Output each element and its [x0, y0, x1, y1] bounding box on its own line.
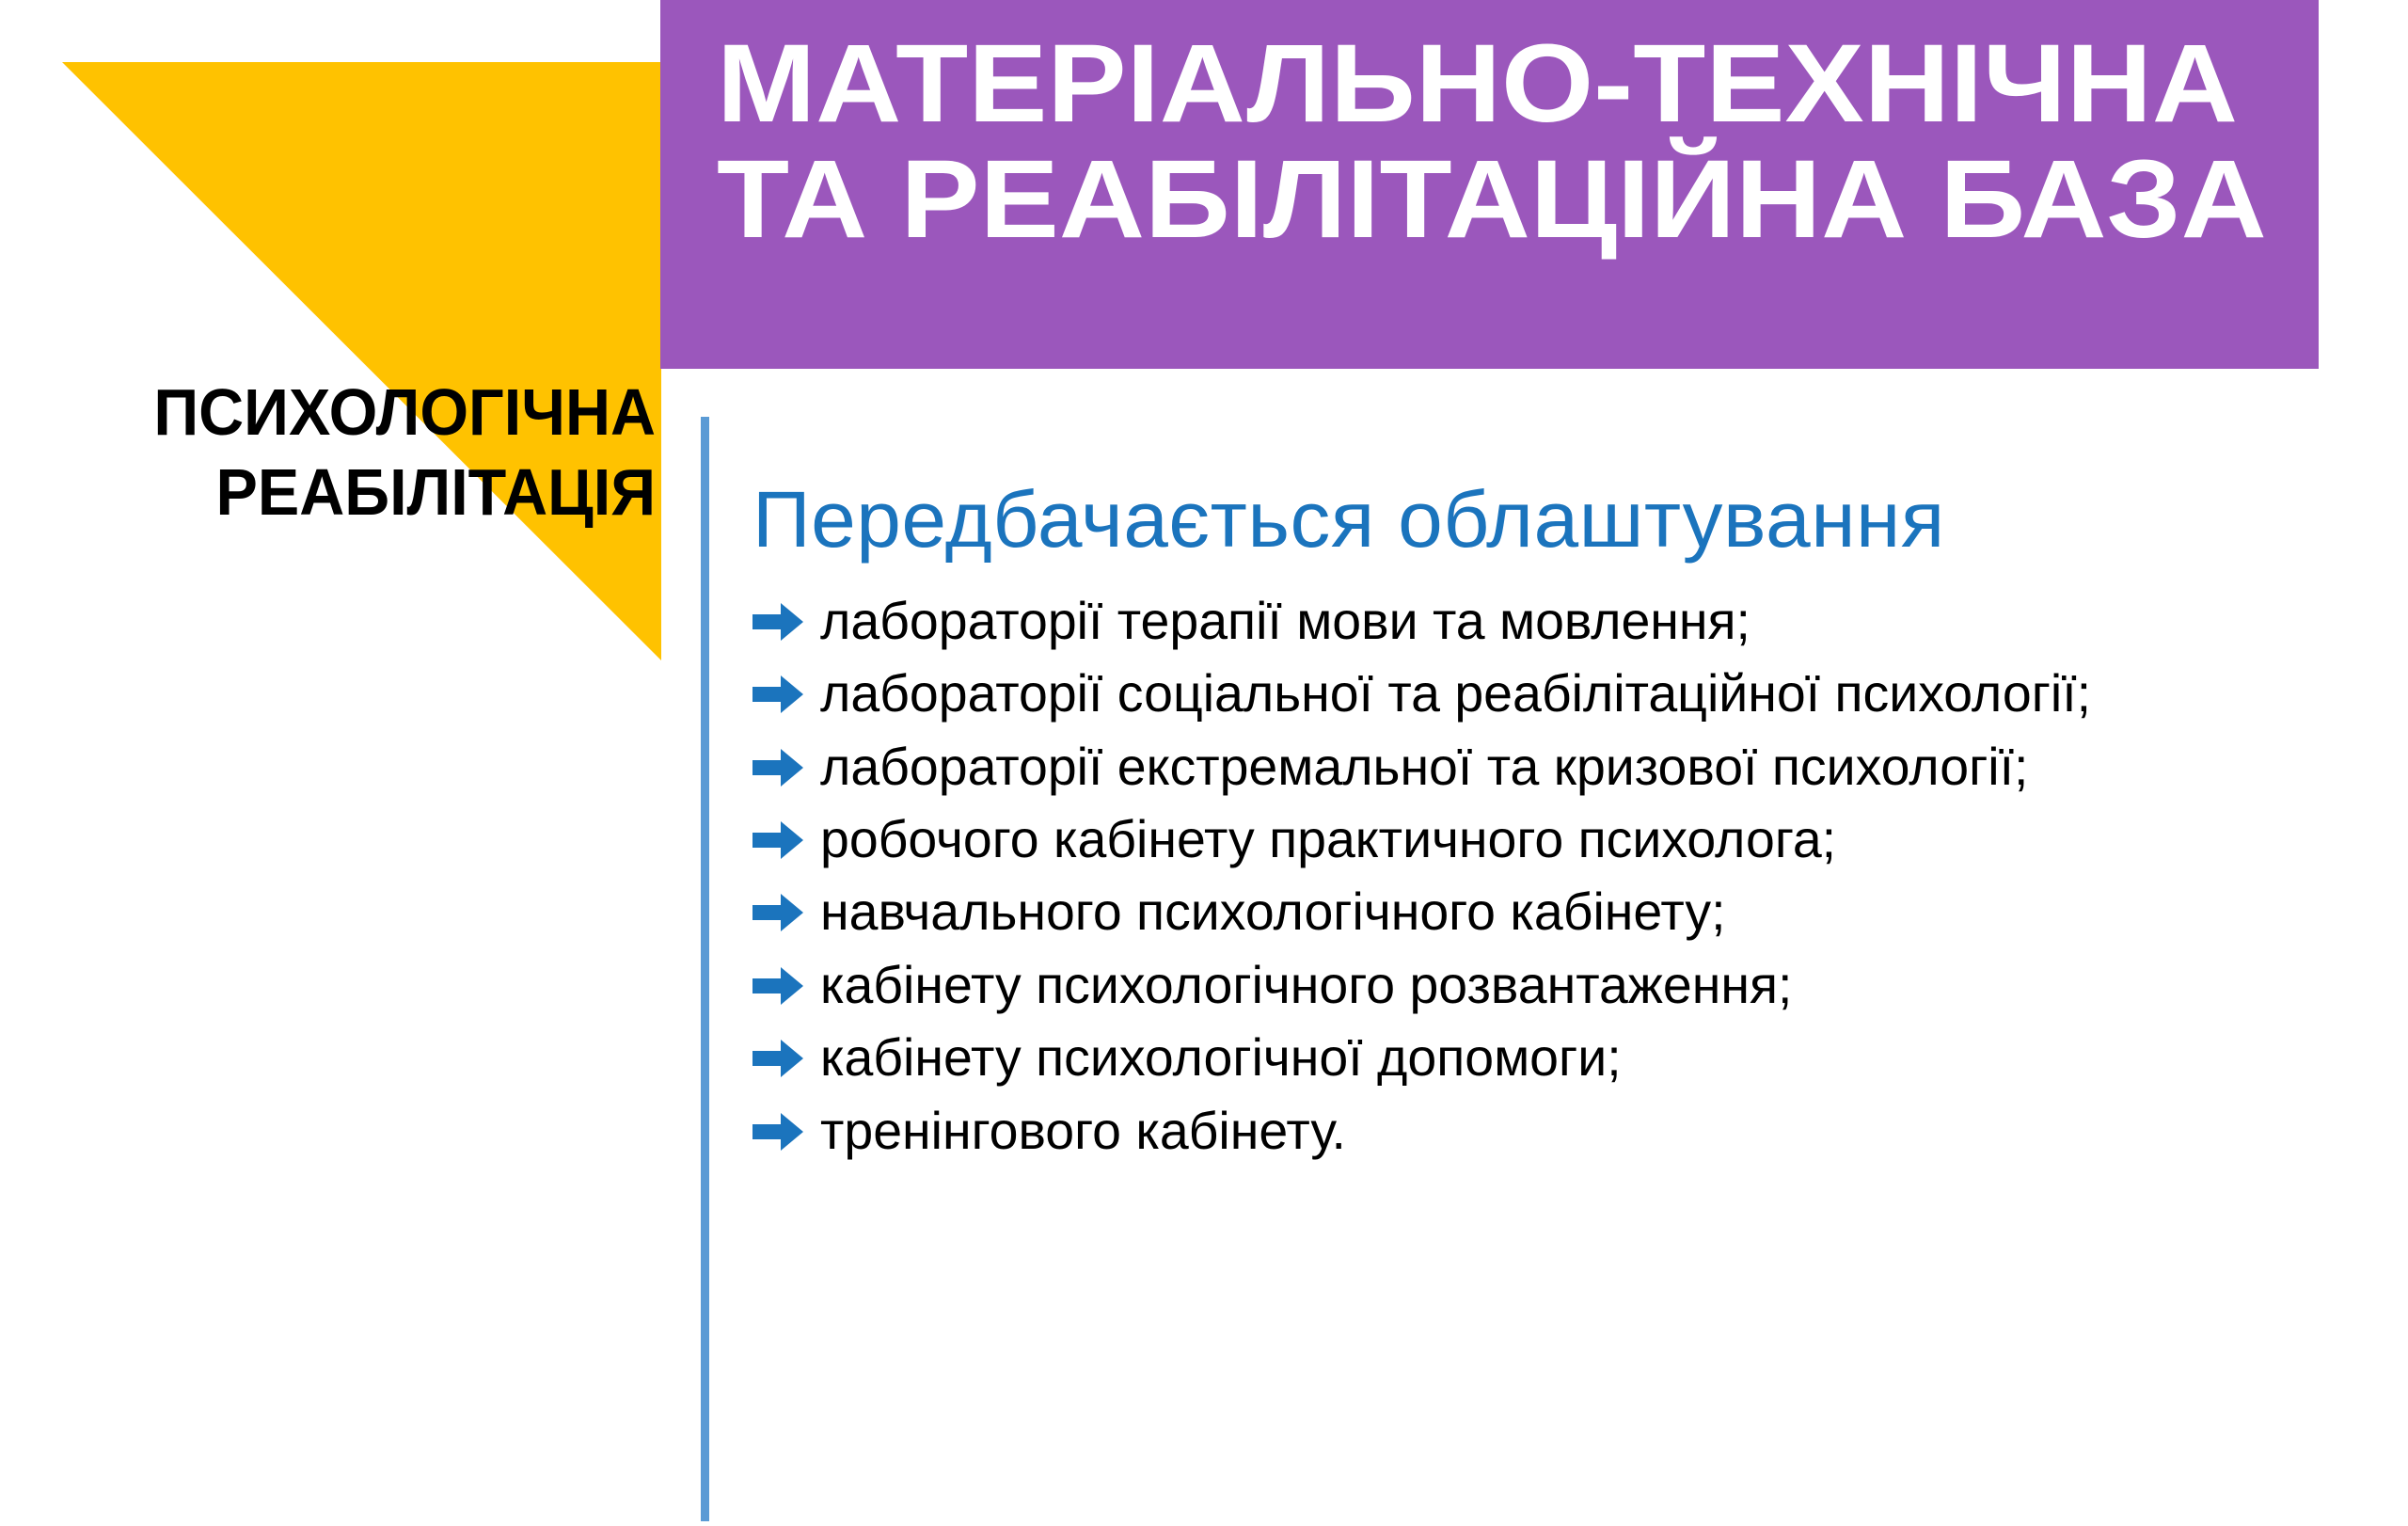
list-item-label: робочого кабінету практичного психолога; [820, 811, 1836, 866]
arrow-right-icon [752, 1110, 803, 1153]
list-item-label: кабінету психологічного розвантаження; [820, 957, 1792, 1012]
section-label-line-1: ПСИХОЛОГІЧНА [33, 373, 656, 453]
content-heading: Передбачається облаштування [752, 480, 2384, 559]
provision-list: лабораторії терапії мови та мовлення; ла… [752, 593, 2352, 1158]
arrow-right-icon [752, 819, 803, 862]
list-item: лабораторії соціальної та реабілітаційно… [752, 665, 2352, 721]
list-item: лабораторії екстремальної та кризової пс… [752, 739, 2352, 794]
header-title-line-2: ТА РЕАБІЛІТАЦІЙНА БАЗА [717, 142, 2390, 258]
arrow-right-icon [752, 964, 803, 1008]
list-item-label: кабінету психологічної допомоги; [820, 1029, 1622, 1085]
header-band: МАТЕРІАЛЬНО-ТЕХНІЧНА ТА РЕАБІЛІТАЦІЙНА Б… [660, 0, 2319, 369]
list-item-label: навчального психологічного кабінету; [820, 883, 1726, 939]
yellow-triangle-decoration [62, 62, 661, 660]
slide-root: МАТЕРІАЛЬНО-ТЕХНІЧНА ТА РЕАБІЛІТАЦІЙНА Б… [0, 0, 2408, 1526]
list-item-label: лабораторії соціальної та реабілітаційно… [820, 665, 2091, 721]
arrow-right-icon [752, 673, 803, 716]
arrow-right-icon [752, 746, 803, 789]
header-title-line-1: МАТЕРІАЛЬНО-ТЕХНІЧНА [717, 26, 2390, 142]
section-label: ПСИХОЛОГІЧНА РЕАБІЛІТАЦІЯ [0, 373, 660, 533]
list-item: лабораторії терапії мови та мовлення; [752, 593, 2352, 648]
list-item: тренінгового кабінету. [752, 1103, 2352, 1158]
arrow-right-icon [752, 891, 803, 934]
list-item-label: лабораторії терапії мови та мовлення; [820, 593, 1751, 648]
section-label-line-2: РЕАБІЛІТАЦІЯ [33, 453, 656, 533]
list-item-label: тренінгового кабінету. [820, 1103, 1346, 1158]
list-item: кабінету психологічного розвантаження; [752, 957, 2352, 1012]
list-item: навчального психологічного кабінету; [752, 883, 2352, 939]
list-item: робочого кабінету практичного психолога; [752, 811, 2352, 866]
vertical-divider [701, 417, 709, 1521]
arrow-right-icon [752, 1037, 803, 1080]
content-column: Передбачається облаштування лабораторії … [752, 480, 2352, 1175]
list-item-label: лабораторії екстремальної та кризової пс… [820, 739, 2028, 794]
arrow-right-icon [752, 600, 803, 644]
header-text-group: МАТЕРІАЛЬНО-ТЕХНІЧНА ТА РЕАБІЛІТАЦІЙНА Б… [717, 26, 2281, 257]
list-item: кабінету психологічної допомоги; [752, 1029, 2352, 1085]
